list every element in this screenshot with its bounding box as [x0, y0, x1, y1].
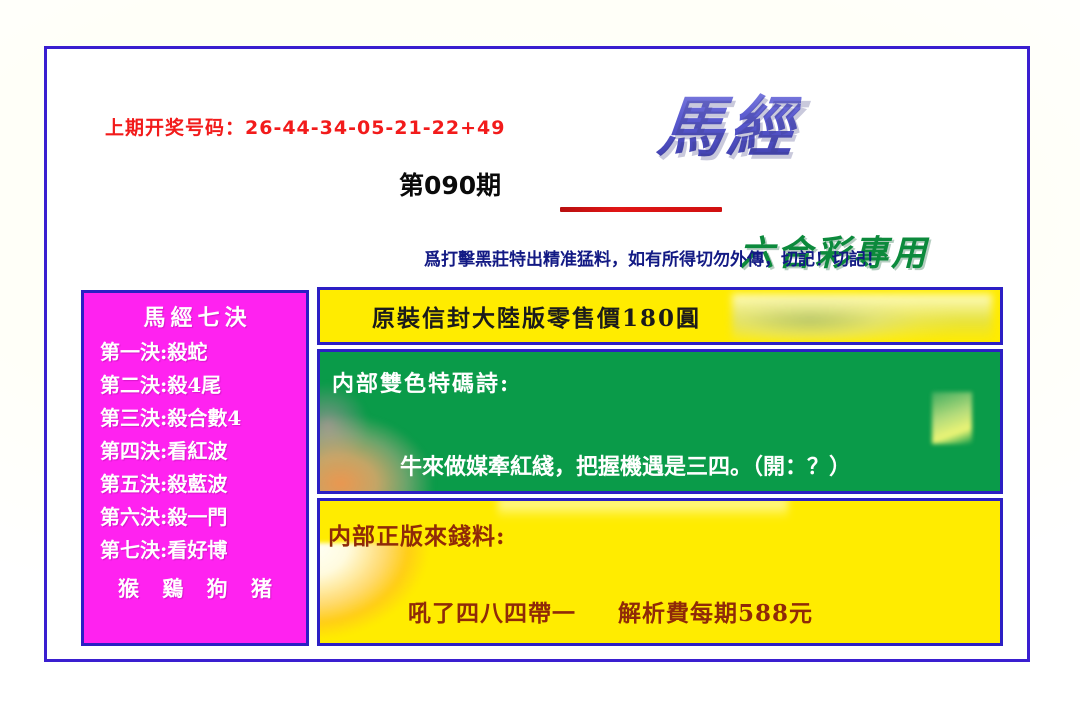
- list-item: 第七決:看好博: [84, 534, 306, 567]
- list-item: 第六決:殺一門: [84, 501, 306, 534]
- poem-panel-label: 内部雙色特碼詩:: [332, 366, 510, 398]
- issue-number: 第090期: [399, 166, 501, 202]
- right-panel-column: 原裝信封大陸版零售價180圓 内部雙色特碼詩: 牛來做媒牽紅綫，把握機遇是三四。…: [317, 287, 1003, 649]
- money-panel-row: 吼了四八四帶一解析費每期588元: [408, 594, 813, 628]
- seven-decisions-list: 第一決:殺蛇 第二決:殺4尾 第三決:殺合數4 第四決:看紅波 第五決:殺藍波 …: [84, 336, 306, 567]
- list-item: 第一決:殺蛇: [84, 336, 306, 369]
- money-panel-fee: 解析費每期588元: [618, 600, 813, 627]
- poem-panel-verse: 牛來做媒牽紅綫，把握機遇是三四。（開：？）: [400, 449, 851, 481]
- retail-price-text: 原裝信封大陸版零售價180圓: [372, 299, 701, 333]
- list-item: 第四決:看紅波: [84, 435, 306, 468]
- poster-frame: 上期开奖号码：26-44-34-05-21-22+49 第090期 馬經 六合彩…: [44, 46, 1030, 662]
- list-item: 第三決:殺合數4: [84, 402, 306, 435]
- brand-divider-rule: [560, 207, 722, 212]
- last-draw-numbers: 上期开奖号码：26-44-34-05-21-22+49: [105, 113, 505, 140]
- poster-header: 上期开奖号码：26-44-34-05-21-22+49 第090期 馬經 六合彩…: [47, 49, 1027, 281]
- poster-body: 馬經七決 第一決:殺蛇 第二決:殺4尾 第三決:殺合數4 第四決:看紅波 第五決…: [47, 287, 1027, 659]
- money-panel-smudge: [498, 499, 788, 519]
- poem-panel-blob-right: [932, 392, 972, 444]
- zodiac-row: 猴 鷄 狗 猪: [84, 573, 306, 603]
- money-panel-pick: 吼了四八四帶一: [408, 600, 576, 627]
- list-item: 第五決:殺藍波: [84, 468, 306, 501]
- money-panel-label: 内部正版來錢料:: [328, 517, 506, 551]
- two-color-poem-panel: 内部雙色特碼詩: 牛來做媒牽紅綫，把握機遇是三四。（開：？）: [317, 349, 1003, 494]
- money-tip-panel: 内部正版來錢料: 吼了四八四帶一解析費每期588元: [317, 498, 1003, 646]
- retail-price-panel: 原裝信封大陸版零售價180圓: [317, 287, 1003, 345]
- seven-decisions-panel: 馬經七決 第一決:殺蛇 第二決:殺4尾 第三決:殺合數4 第四決:看紅波 第五決…: [81, 290, 309, 646]
- price-panel-smudge: [732, 294, 992, 342]
- poster-slogan: 爲打擊黑莊特出精准猛料，如有所得切勿外傳，切記！切記！: [424, 245, 883, 270]
- brand-title: 馬經: [654, 74, 804, 170]
- list-item: 第二決:殺4尾: [84, 369, 306, 402]
- seven-decisions-title: 馬經七決: [84, 300, 306, 332]
